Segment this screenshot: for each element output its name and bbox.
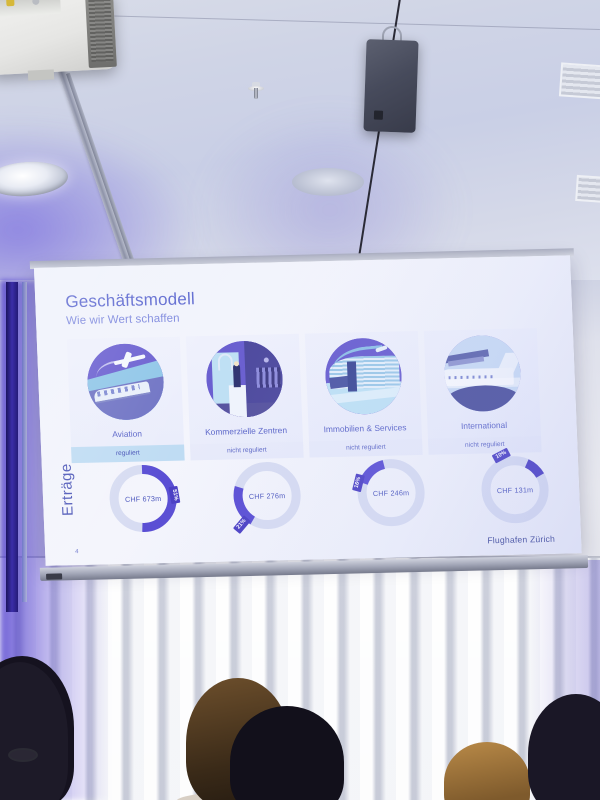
donut-value: CHF 246m bbox=[353, 455, 430, 531]
segment-label: International bbox=[461, 420, 507, 431]
conference-room-photo: Geschäftsmodell Wie wir Wert schaffen bbox=[0, 0, 600, 800]
revenue-row-label: Erträge bbox=[58, 463, 77, 516]
screen-surface: Geschäftsmodell Wie wir Wert schaffen bbox=[34, 255, 582, 565]
donut-cell-international: CHF 131m 10% bbox=[466, 452, 565, 528]
segment-card-kommerzielle-zentren: Kommerzielle Zentren nicht reguliert bbox=[186, 334, 304, 461]
ceiling-seam bbox=[95, 15, 600, 30]
speaker-port bbox=[374, 110, 383, 119]
terminal-building-icon bbox=[324, 337, 403, 415]
air-vent-secondary bbox=[575, 175, 600, 203]
wall-corner-left bbox=[6, 282, 18, 612]
slide-content: Geschäftsmodell Wie wir Wert schaffen bbox=[34, 255, 582, 565]
aircraft-fuselage-icon bbox=[442, 335, 521, 413]
segment-card-immobilien-services: Immobilien & Services nicht reguliert bbox=[305, 331, 423, 458]
segment-label: Aviation bbox=[112, 428, 142, 439]
donut-cell-kommerzielle-zentren: CHF 276m 21% bbox=[218, 457, 317, 533]
airplane-train-icon bbox=[86, 343, 165, 421]
projector-vent-slats bbox=[88, 0, 113, 62]
ceiling-projector bbox=[0, 0, 117, 75]
segment-label: Immobilien & Services bbox=[323, 422, 406, 434]
segment-card-international: International nicht reguliert bbox=[424, 328, 542, 455]
donut-value: CHF 131m bbox=[477, 452, 554, 528]
projector-vent-panel bbox=[85, 0, 117, 68]
revenue-donut-charts: CHF 673m 51% CHF 276m 21% bbox=[94, 452, 565, 537]
segment-card-aviation: Aviation reguliert bbox=[67, 337, 185, 464]
wall-corner-highlight bbox=[22, 282, 27, 602]
donut-cell-immobilien-services: CHF 246m 16% bbox=[342, 455, 441, 531]
slide-page-number: 4 bbox=[75, 549, 79, 555]
projector-indicator bbox=[6, 0, 14, 6]
projection-screen: Geschäftsmodell Wie wir Wert schaffen bbox=[34, 255, 582, 567]
ceiling-speaker bbox=[363, 39, 418, 133]
slide-brand-footer: Flughafen Zürich bbox=[487, 534, 555, 546]
donut-chart-kommerzielle-zentren: CHF 276m 21% bbox=[229, 458, 306, 534]
segment-cards: Aviation reguliert bbox=[67, 328, 542, 463]
air-vent bbox=[559, 62, 600, 99]
donut-chart-aviation: CHF 673m 51% bbox=[105, 461, 182, 537]
recessed-ceiling-speaker bbox=[292, 168, 364, 196]
shopping-person-icon bbox=[205, 340, 284, 418]
fire-sprinkler-icon bbox=[248, 82, 264, 100]
donut-cell-aviation: CHF 673m 51% bbox=[94, 460, 193, 536]
projector-mount bbox=[28, 69, 54, 80]
donut-chart-immobilien-services: CHF 246m 16% bbox=[353, 455, 430, 531]
segment-label: Kommerzielle Zentren bbox=[205, 425, 287, 437]
eyeglasses bbox=[8, 748, 38, 762]
screen-bottom-weight bbox=[46, 573, 62, 579]
donut-chart-international: CHF 131m 10% bbox=[477, 452, 554, 528]
